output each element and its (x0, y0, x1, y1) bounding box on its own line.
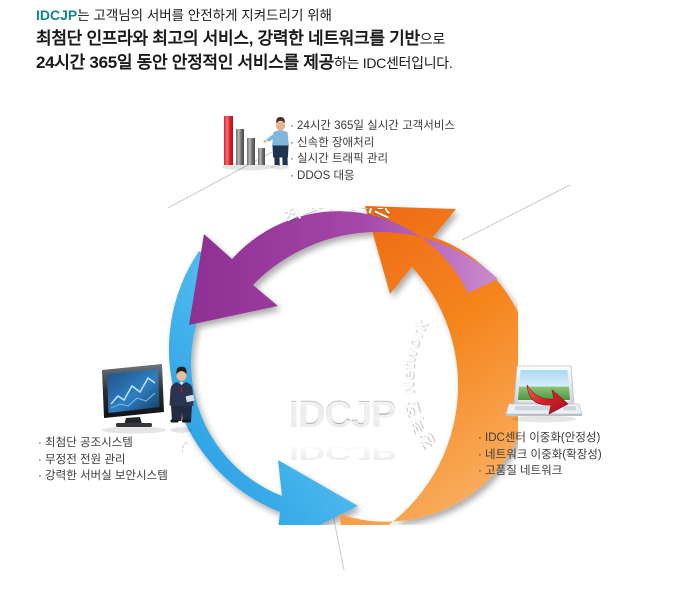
illustration-laptop-red-arrow (505, 362, 583, 424)
header-line-2-strong: 최첨단 인프라와 최고의 서비스, 강력한 네트워크를 기반 (36, 29, 420, 48)
callout-right-item-2: 네트워크 이중화(확장성) (478, 447, 602, 464)
callout-top-item-3: 실시간 트래픽 관리 (290, 151, 455, 168)
header-copy: IDCJP는 고객님의 서버를 안전하게 지켜드리기 위해 최첨단 인프라와 최… (36, 4, 636, 75)
header-line-3-strong: 24시간 365일 동안 안정적인 서비스를 제공 (36, 53, 334, 72)
callout-top-item-4: DDOS 대응 (290, 168, 455, 185)
callout-left-item-1: 최첨단 공조시스템 (38, 435, 168, 452)
callout-right-item-1: IDC센터 이중화(안정성) (478, 430, 602, 447)
bar-4 (258, 148, 265, 165)
bar-2 (236, 129, 244, 165)
callout-right-item-3: 고품질 네트워크 (478, 463, 602, 480)
callout-left-list: 최첨단 공조시스템 무정전 전원 관리 강력한 서버실 보안시스템 (38, 435, 168, 485)
header-line-3-thin: 하는 IDC센터입니다. (334, 55, 452, 71)
header-line-1-rest: 는 고객님의 서버를 안전하게 지켜드리기 위해 (77, 8, 332, 23)
callout-right-list: IDC센터 이중화(안정성) 네트워크 이중화(확장성) 고품질 네트워크 (478, 430, 602, 480)
header-line-3: 24시간 365일 동안 안정적인 서비스를 제공하는 IDC센터입니다. (36, 51, 636, 75)
header-line-2: 최첨단 인프라와 최고의 서비스, 강력한 네트워크를 기반으로 (36, 27, 636, 51)
bar-1 (224, 116, 233, 165)
callout-top-item-2: 신속한 장애처리 (290, 135, 455, 152)
center-wordmark-text: IDCJP (262, 395, 422, 435)
callout-top-item-1: 24시간 365일 실시간 고객서비스 (290, 118, 455, 135)
presenter-figure (263, 117, 289, 170)
header-line-1: IDCJP는 고객님의 서버를 안전하게 지켜드리기 위해 (36, 4, 636, 27)
callout-left-item-2: 무정전 전원 관리 (38, 452, 168, 469)
illustration-monitor-businessman (96, 360, 200, 436)
promo-infographic: IDCJP는 고객님의 서버를 안전하게 지켜드리기 위해 최첨단 인프라와 최… (0, 0, 680, 600)
header-line-2-thin: 으로 (420, 31, 445, 47)
brand-name: IDCJP (36, 7, 77, 23)
cycle-ring (168, 185, 518, 525)
center-wordmark: IDCJP IDCJP (262, 395, 422, 439)
callout-left-item-3: 강력한 서버실 보안시스템 (38, 468, 168, 485)
monitor-shadow (102, 426, 166, 433)
center-wordmark-reflection: IDCJP (262, 443, 422, 462)
monitor-icon (102, 364, 164, 427)
cycle-diagram: 최고의 서비스 강력한 Network 최첨단 INFRA IDCJP (0, 90, 680, 600)
laptop-shadow (512, 416, 576, 423)
laptop-icon (506, 366, 582, 416)
businessman-figure (170, 367, 195, 433)
illustration-bar-chart-presenter (222, 110, 294, 172)
bar-3 (247, 138, 255, 165)
callout-top-list: 24시간 365일 실시간 고객서비스 신속한 장애처리 실시간 트래픽 관리 … (290, 118, 455, 184)
